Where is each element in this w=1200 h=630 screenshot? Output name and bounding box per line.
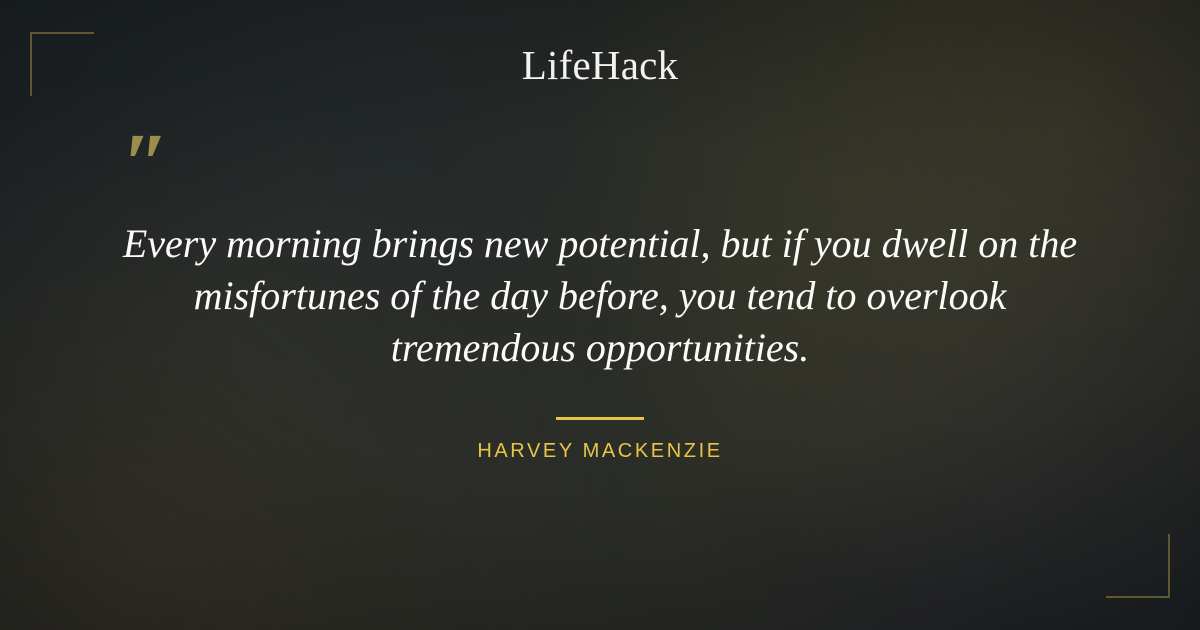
quote-line: tremendous opportunities. [70,322,1130,374]
author-name: HARVEY MACKENZIE [0,440,1200,463]
quote-line: misfortunes of the day before, you tend … [70,270,1130,322]
brand-logo: LifeHack [0,41,1200,89]
quote-line: Every morning brings new potential, but … [70,218,1130,270]
corner-bracket-bottom-right-icon [1106,534,1170,598]
gold-divider [556,417,644,420]
quotation-mark-icon: ″ [122,120,170,206]
quote-card: LifeHack ″ Every morning brings new pote… [0,0,1200,630]
quote-text: Every morning brings new potential, but … [70,218,1130,374]
divider-container [0,407,1200,425]
